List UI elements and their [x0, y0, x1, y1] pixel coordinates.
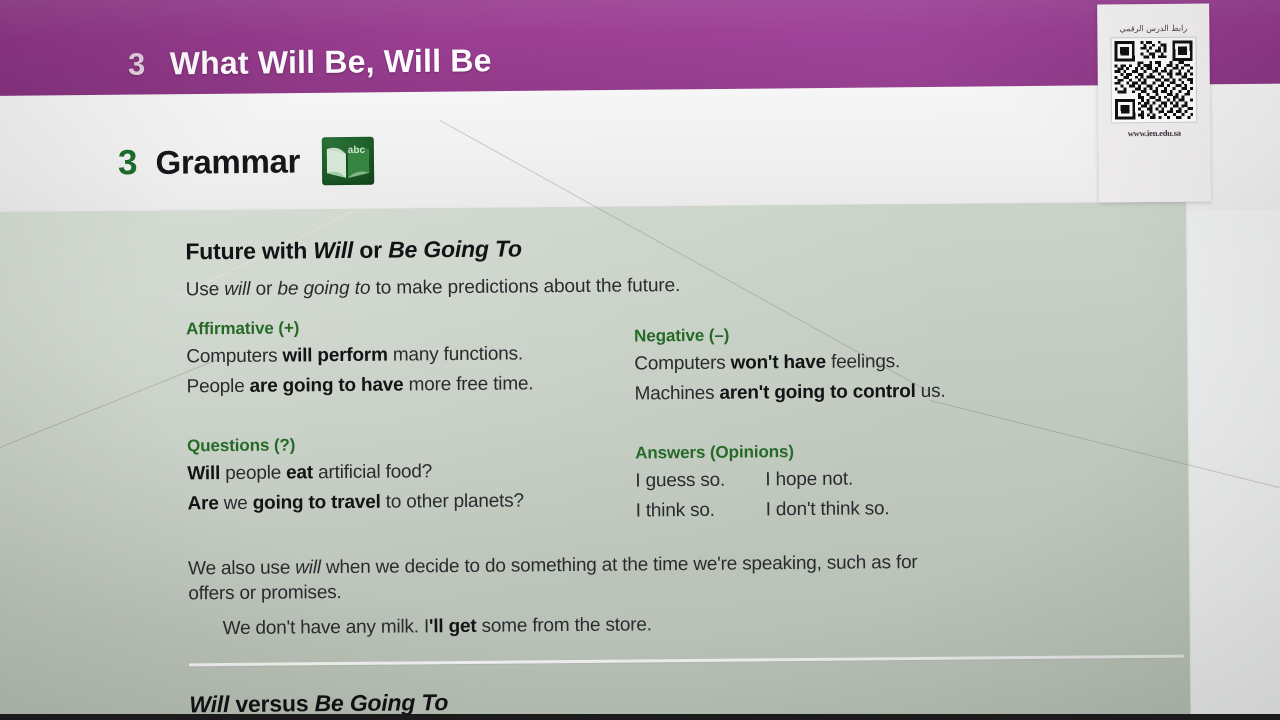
chapter-header: 3 What Will Be, Will Be	[128, 42, 492, 82]
sub-em-be-going-to: Be Going To	[314, 689, 448, 716]
negative-label: Negative (–)	[634, 323, 1084, 347]
q-2-mid: we	[219, 493, 253, 514]
affirmative-label: Affirmative (+)	[186, 315, 634, 339]
neg-1-post: feelings.	[826, 351, 900, 373]
example-pre: We don't have any milk. I	[223, 616, 430, 639]
aff-1-post: many functions.	[388, 343, 523, 365]
answers-label: Answers (Opinions)	[635, 440, 1085, 464]
aff-2-post: more free time.	[403, 373, 533, 395]
will-usage-paragraph: We also use will when we decide to do so…	[188, 550, 928, 606]
intro-em-will: will	[224, 279, 250, 300]
answers-block: Answers (Opinions) I guess so. I think s…	[635, 440, 1086, 527]
heading-em-will: Will	[313, 237, 353, 263]
neg-2-post: us.	[916, 381, 946, 402]
aff-2-pre: People	[186, 376, 249, 398]
q-1-bold-2: eat	[286, 462, 313, 483]
q-2-post: to other planets?	[381, 490, 524, 512]
section-divider	[189, 655, 1184, 667]
grammar-intro: Use will or be going to to make predicti…	[186, 271, 1201, 302]
q-1-post: artificial food?	[313, 461, 432, 483]
grammar-columns-row-1: Affirmative (+) Computers will perform m…	[186, 311, 1202, 414]
neg-1-pre: Computers	[634, 353, 730, 375]
digital-lesson-qr-card[interactable]: رابط الدرس الرقمي	[1097, 4, 1211, 203]
answer-b-1: I hope not.	[765, 464, 965, 496]
intro-text-2: or	[250, 279, 277, 300]
grammar-content: Future with Will or Be Going To Use will…	[0, 200, 1205, 720]
answers-grid: I guess so. I think so. I hope not. I do…	[635, 463, 1086, 527]
photo-bottom-edge	[0, 714, 1280, 720]
intro-em-be-going-to: be going to	[277, 278, 370, 300]
grammar-heading: Future with Will or Be Going To	[185, 230, 1200, 266]
qr-url-label: www.ien.edu.sa	[1128, 128, 1181, 138]
q-2-bold-2: going to travel	[253, 492, 381, 514]
questions-example-1: Will people eat artificial food?	[187, 455, 635, 489]
negative-block: Negative (–) Computers won't have feelin…	[634, 323, 1085, 410]
questions-example-2: Are we going to travel to other planets?	[187, 485, 635, 519]
subsection-heading: Will versus Be Going To	[189, 683, 1204, 719]
q-2-bold-1: Are	[187, 493, 218, 514]
para-em-will: will	[295, 557, 321, 578]
section-header: 3 Grammar abc	[118, 137, 375, 187]
answer-a-1: I guess so.	[635, 465, 765, 496]
q-1-mid: people	[220, 463, 286, 485]
q-1-bold-1: Will	[187, 463, 220, 484]
example-post: some from the store.	[476, 614, 651, 637]
heading-text-2: or	[353, 237, 388, 263]
neg-2-bold: aren't going to control	[719, 381, 915, 404]
intro-text-1: Use	[186, 279, 225, 300]
grammar-columns-row-2: Questions (?) Will people eat artificial…	[187, 428, 1203, 531]
section-title: Grammar	[155, 142, 300, 181]
answers-column-b: I hope not. I don't think so.	[765, 464, 966, 526]
chapter-title: What Will Be, Will Be	[170, 42, 492, 82]
neg-2-pre: Machines	[635, 383, 720, 405]
qr-caption-arabic: رابط الدرس الرقمي	[1119, 24, 1187, 34]
negative-example-2: Machines aren't going to control us.	[635, 376, 1085, 410]
open-book-abc-icon: abc	[322, 137, 374, 185]
textbook-page-photo: 3 What Will Be, Will Be 3 Grammar abc را…	[0, 0, 1280, 720]
intro-text-3: to make predictions about the future.	[370, 275, 680, 299]
affirmative-block: Affirmative (+) Computers will perform m…	[186, 315, 635, 413]
questions-label: Questions (?)	[187, 432, 635, 456]
answer-a-2: I think so.	[636, 495, 766, 526]
sub-text-mid: versus	[229, 690, 315, 717]
qr-code-icon[interactable]	[1110, 37, 1197, 124]
heading-em-be-going-to: Be Going To	[388, 235, 522, 262]
heading-text-1: Future with	[185, 237, 313, 264]
negative-example-1: Computers won't have feelings.	[634, 346, 1084, 380]
aff-2-bold: are going to have	[250, 374, 404, 396]
aff-1-pre: Computers	[186, 346, 282, 368]
para-text-1: We also use	[188, 557, 295, 579]
chapter-number: 3	[128, 47, 146, 83]
book-icon-letters: abc	[348, 146, 365, 155]
aff-1-bold: will perform	[282, 345, 387, 367]
affirmative-example-1: Computers will perform many functions.	[186, 338, 634, 372]
answers-column-a: I guess so. I think so.	[635, 465, 766, 526]
questions-block: Questions (?) Will people eat artificial…	[187, 432, 636, 530]
section-number: 3	[118, 143, 138, 183]
will-usage-example: We don't have any milk. I'll get some fr…	[223, 610, 963, 641]
neg-1-bold: won't have	[730, 352, 826, 374]
example-bold: 'll get	[429, 616, 477, 637]
answer-b-2: I don't think so.	[766, 494, 966, 526]
affirmative-example-2: People are going to have more free time.	[186, 368, 634, 402]
